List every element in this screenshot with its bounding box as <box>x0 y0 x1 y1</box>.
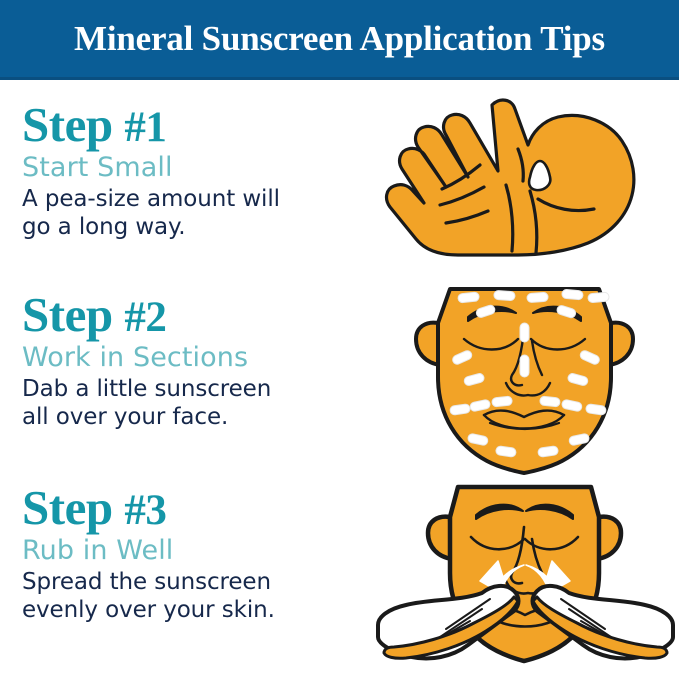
steps-column: Step #1 Start Small A pea-size amount wi… <box>0 83 372 679</box>
step-2-number: #2 <box>124 294 166 341</box>
step-3-body-line-1: Spread the sunscreen <box>22 568 372 597</box>
step-3-title-word: Step <box>22 480 113 535</box>
step-2-body: Dab a little sunscreen all over your fac… <box>22 375 372 432</box>
step-1-heading: Step #1 <box>22 99 372 151</box>
step-3-body: Spread the sunscreen evenly over your sk… <box>22 568 372 625</box>
page-title: Mineral Sunscreen Application Tips <box>74 21 605 56</box>
step-1-body: A pea-size amount will go a long way. <box>22 185 372 242</box>
header-banner: Mineral Sunscreen Application Tips <box>0 0 679 80</box>
step-2-heading: Step #2 <box>22 289 372 341</box>
face-with-sunscreen-dabs-icon <box>372 265 679 483</box>
step-3-heading: Step #3 <box>22 482 372 534</box>
step-1-subtitle: Start Small <box>22 152 372 184</box>
step-3-subtitle: Rub in Well <box>22 535 372 567</box>
hands-rubbing-face-icon <box>372 473 679 679</box>
step-1-illustration <box>372 83 679 273</box>
infographic-page: Mineral Sunscreen Application Tips Step … <box>0 0 679 679</box>
step-1-title-word: Step <box>22 97 113 152</box>
step-block-1: Step #1 Start Small A pea-size amount wi… <box>22 99 372 242</box>
step-2-body-line-2: all over your face. <box>22 403 372 432</box>
illustrations-column <box>372 83 679 679</box>
open-hand-with-sunscreen-dollop-icon <box>372 83 679 273</box>
step-2-title-word: Step <box>22 287 113 342</box>
step-1-body-line-2: go a long way. <box>22 213 372 242</box>
step-3-number: #3 <box>124 487 166 534</box>
step-2-body-line-1: Dab a little sunscreen <box>22 375 372 404</box>
step-1-number: #1 <box>124 104 166 151</box>
step-block-2: Step #2 Work in Sections Dab a little su… <box>22 289 372 432</box>
step-2-illustration <box>372 265 679 483</box>
step-block-3: Step #3 Rub in Well Spread the sunscreen… <box>22 482 372 625</box>
step-2-subtitle: Work in Sections <box>22 342 372 374</box>
step-1-body-line-1: A pea-size amount will <box>22 185 372 214</box>
step-3-body-line-2: evenly over your skin. <box>22 596 372 625</box>
step-3-illustration <box>372 473 679 679</box>
